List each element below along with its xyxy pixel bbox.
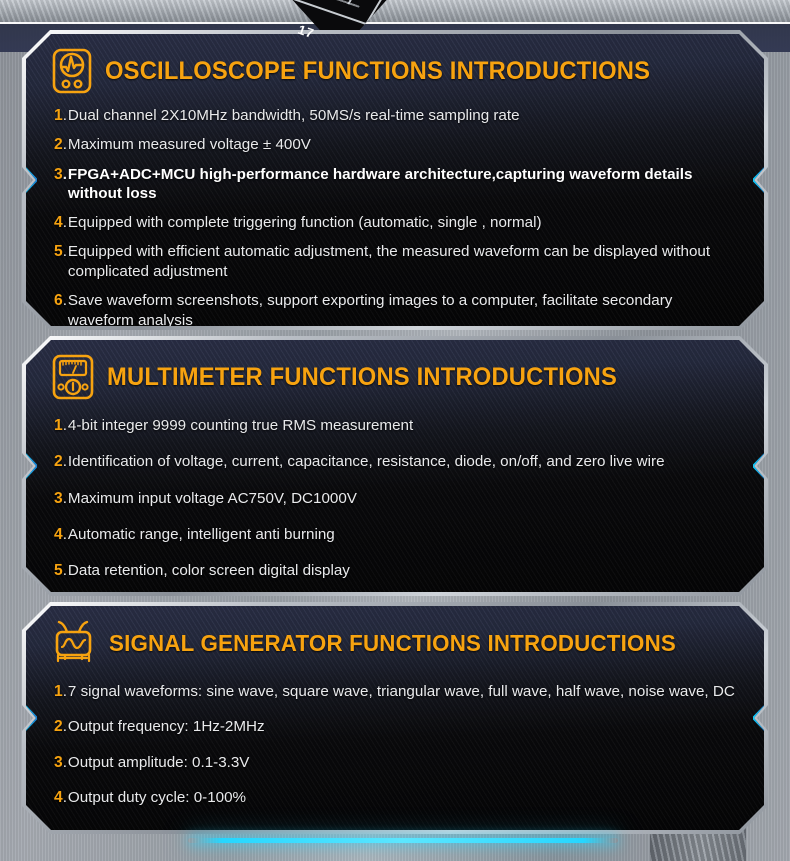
signal-generator-icon [52,620,96,666]
list-item-text: Identification of voltage, current, capa… [68,452,665,472]
list-item: 4. Automatic range, intelligent anti bur… [54,525,738,545]
section-title: MULTIMETER FUNCTIONS INTRODUCTIONS [107,363,617,392]
list-item: 4. Equipped with complete triggering fun… [54,213,738,233]
oscilloscope-icon [52,48,92,94]
list-item-number: 3 [54,753,63,773]
list-item-text: 4-bit integer 9999 counting true RMS mea… [68,416,413,436]
list-item: 1. 4-bit integer 9999 counting true RMS … [54,416,738,436]
list-item-text: Maximum input voltage AC750V, DC1000V [68,489,357,509]
panel-inner: MULTIMETER FUNCTIONS INTRODUCTIONS 1. 4-… [26,340,764,592]
list-item-dot: . [63,788,67,808]
list-item: 1. Dual channel 2X10MHz bandwidth, 50MS/… [54,106,738,126]
list-item-number: 2 [54,135,63,155]
list-item-text: Data retention, color screen digital dis… [68,561,350,581]
section-panel-oscilloscope: OSCILLOSCOPE FUNCTIONS INTRODUCTIONS 1. … [22,30,768,330]
section-panel-signal-generator: SIGNAL GENERATOR FUNCTIONS INTRODUCTIONS… [22,602,768,834]
list-item: 4. Output duty cycle: 0-100% [54,788,738,808]
multimeter-icon [52,354,94,400]
list-item-text: Output duty cycle: 0-100% [68,788,246,808]
list-item-number: 1 [54,682,63,702]
list-item-number: 1 [54,416,63,436]
infographic-page: 17 OSCILLOSCOPE FUNCTIONS INTRODUCTIONS [0,0,790,861]
list-item-dot: . [63,561,67,581]
list-item-text: Maximum measured voltage ± 400V [68,135,311,155]
panel-inner: SIGNAL GENERATOR FUNCTIONS INTRODUCTIONS… [26,606,764,830]
panel-inner: OSCILLOSCOPE FUNCTIONS INTRODUCTIONS 1. … [26,34,764,326]
list-item-number: 5 [54,242,63,262]
list-item-number: 3 [54,165,63,185]
list-item: 3. FPGA+ADC+MCU high-performance hardwar… [54,165,738,205]
list-item-dot: . [63,525,67,545]
bottom-cyan-glow [188,838,618,843]
section-list: 1. 4-bit integer 9999 counting true RMS … [26,406,764,592]
section-header: SIGNAL GENERATOR FUNCTIONS INTRODUCTIONS [26,606,764,672]
list-item-dot: . [63,452,67,472]
list-item-text: 7 signal waveforms: sine wave, square wa… [68,682,735,702]
list-item-dot: . [63,213,67,233]
list-item-number: 6 [54,291,63,311]
list-item-dot: . [63,291,67,311]
list-item: 5. Data retention, color screen digital … [54,561,738,581]
section-panel-multimeter: MULTIMETER FUNCTIONS INTRODUCTIONS 1. 4-… [22,336,768,596]
list-item-dot: . [63,135,67,155]
list-item-dot: . [63,416,67,436]
list-item: 3. Maximum input voltage AC750V, DC1000V [54,489,738,509]
list-item-text: Save waveform screenshots, support expor… [68,291,738,326]
list-item-number: 1 [54,106,63,126]
list-item-dot: . [63,717,67,737]
list-item-number: 4 [54,525,63,545]
list-item: 2. Output frequency: 1Hz-2MHz [54,717,738,737]
list-item: 2. Maximum measured voltage ± 400V [54,135,738,155]
list-item-dot: . [63,106,67,126]
list-item: 3. Output amplitude: 0.1-3.3V [54,753,738,773]
list-item: 5. Equipped with efficient automatic adj… [54,242,738,282]
section-title: SIGNAL GENERATOR FUNCTIONS INTRODUCTIONS [109,630,676,657]
list-item: 2. Identification of voltage, current, c… [54,452,738,472]
list-item-number: 3 [54,489,63,509]
list-item-dot: . [63,489,67,509]
list-item-number: 2 [54,452,63,472]
list-item-text: Automatic range, intelligent anti burnin… [68,525,335,545]
section-header: MULTIMETER FUNCTIONS INTRODUCTIONS [26,340,764,406]
list-item: 1. 7 signal waveforms: sine wave, square… [54,682,738,702]
list-item: 6. Save waveform screenshots, support ex… [54,291,738,326]
list-item-text: Equipped with complete triggering functi… [68,213,542,233]
list-item-text: FPGA+ADC+MCU high-performance hardware a… [68,165,738,205]
list-item-number: 2 [54,717,63,737]
list-item-dot: . [63,682,67,702]
list-item-text: Dual channel 2X10MHz bandwidth, 50MS/s r… [68,106,520,126]
section-title: OSCILLOSCOPE FUNCTIONS INTRODUCTIONS [105,57,650,86]
section-list: 1. Dual channel 2X10MHz bandwidth, 50MS/… [26,100,764,326]
list-item-number: 4 [54,213,63,233]
list-item-text: Output frequency: 1Hz-2MHz [68,717,265,737]
list-item-text: Equipped with efficient automatic adjust… [68,242,738,282]
list-item-text: Output amplitude: 0.1-3.3V [68,753,250,773]
section-header: OSCILLOSCOPE FUNCTIONS INTRODUCTIONS [26,34,764,100]
list-item-number: 5 [54,561,63,581]
list-item-dot: . [63,753,67,773]
list-item-dot: . [63,242,67,262]
list-item-dot: . [63,165,67,185]
list-item-number: 4 [54,788,63,808]
section-list: 1. 7 signal waveforms: sine wave, square… [26,672,764,830]
